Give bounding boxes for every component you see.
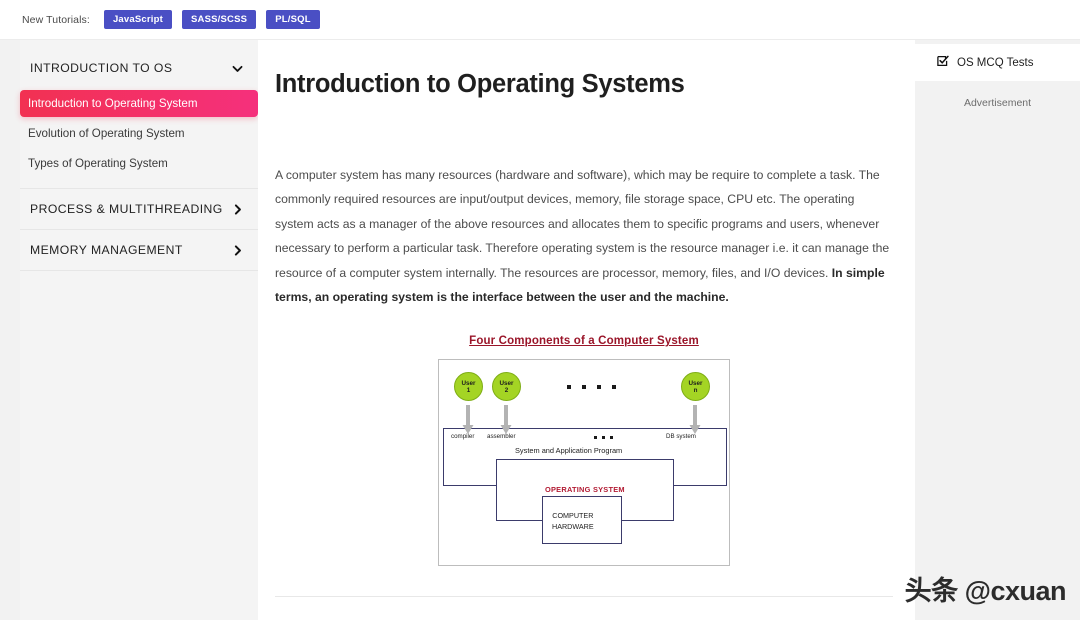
figure-diagram: User 1 User 2 User n xyxy=(438,359,730,566)
sidebar-section-introduction-to-os[interactable]: INTRODUCTION TO OS xyxy=(20,48,258,88)
page-body: INTRODUCTION TO OS Introduction to Opera… xyxy=(0,40,1080,620)
four-components-figure: Four Components of a Computer System Use… xyxy=(275,335,893,566)
os-mcq-tests-label: OS MCQ Tests xyxy=(957,57,1033,69)
left-gutter xyxy=(0,40,20,620)
section-divider xyxy=(275,596,893,597)
user-circle-label-line1: User xyxy=(499,380,513,387)
right-rail: OS MCQ Tests Advertisement xyxy=(915,40,1080,620)
user-circle-n: User n xyxy=(681,372,710,401)
figure-caption: Four Components of a Computer System xyxy=(275,335,893,347)
chevron-right-icon[interactable] xyxy=(231,244,244,257)
sidebar-section-label: MEMORY MANAGEMENT xyxy=(30,243,183,257)
sidebar-section-memory-management[interactable]: MEMORY MANAGEMENT xyxy=(20,230,258,271)
program-label-assembler: assembler xyxy=(487,433,516,440)
article-content: Introduction to Operating Systems A comp… xyxy=(258,40,915,620)
sidebar-section-label: INTRODUCTION TO OS xyxy=(30,61,172,75)
page-title: Introduction to Operating Systems xyxy=(275,70,893,99)
computer-hardware-label: COMPUTER HARDWARE xyxy=(552,511,594,532)
advertisement-label: Advertisement xyxy=(915,81,1080,109)
chevron-right-icon[interactable] xyxy=(231,203,244,216)
program-label-db-system: DB system xyxy=(666,433,696,440)
content-and-rail: Introduction to Operating Systems A comp… xyxy=(258,40,1080,620)
sidebar-section-process-multithreading[interactable]: PROCESS & MULTITHREADING xyxy=(20,189,258,230)
arrow-down-icon-user2 xyxy=(500,405,512,435)
os-mcq-tests-link[interactable]: OS MCQ Tests xyxy=(915,44,1080,81)
chevron-down-icon[interactable] xyxy=(231,62,244,75)
program-label-compiler: compiler xyxy=(451,433,474,440)
sidebar-subitem-list: Introduction to Operating System Evoluti… xyxy=(20,88,258,189)
sidebar-item-introduction-to-operating-system[interactable]: Introduction to Operating System xyxy=(20,90,258,117)
new-tutorials-label: New Tutorials: xyxy=(22,14,90,26)
top-tutorials-bar: New Tutorials: JavaScript SASS/SCSS PL/S… xyxy=(0,0,1080,40)
sidebar-section-label: PROCESS & MULTITHREADING xyxy=(30,202,223,216)
top-ellipsis-dots xyxy=(567,385,616,389)
sidebar-item-label: Types of Operating System xyxy=(28,157,168,170)
tag-button-sass-scss[interactable]: SASS/SCSS xyxy=(182,10,256,30)
sidebar-item-evolution-of-operating-system[interactable]: Evolution of Operating System xyxy=(20,120,258,147)
tag-button-plsql[interactable]: PL/SQL xyxy=(266,10,320,30)
user-circle-label-line1: User xyxy=(461,380,475,387)
program-layer-label: System and Application Program xyxy=(515,446,622,455)
arrow-down-icon-usern xyxy=(689,405,701,435)
tag-button-javascript[interactable]: JavaScript xyxy=(104,10,172,30)
user-circle-label-line1: User xyxy=(688,380,702,387)
computer-hardware-label-line1: COMPUTER xyxy=(552,511,593,520)
user-circle-2: User 2 xyxy=(492,372,521,401)
user-circle-1: User 1 xyxy=(454,372,483,401)
sidebar-item-label: Evolution of Operating System xyxy=(28,127,185,140)
user-circle-label-line2: 2 xyxy=(505,387,509,394)
mid-ellipsis-dots xyxy=(594,436,613,439)
sidebar-item-types-of-operating-system[interactable]: Types of Operating System xyxy=(20,150,258,177)
sidebar-item-label: Introduction to Operating System xyxy=(28,97,198,110)
user-circle-label-line2: n xyxy=(694,387,698,394)
user-circle-label-line2: 1 xyxy=(467,387,471,394)
computer-hardware-label-line2: HARDWARE xyxy=(552,522,594,531)
operating-system-label: OPERATING SYSTEM xyxy=(545,485,625,494)
arrow-down-icon-user1 xyxy=(462,405,474,435)
course-sidebar: INTRODUCTION TO OS Introduction to Opera… xyxy=(20,40,258,620)
intro-paragraph-text: A computer system has many resources (ha… xyxy=(275,168,889,280)
intro-paragraph: A computer system has many resources (ha… xyxy=(275,163,893,309)
checked-square-icon xyxy=(937,55,949,70)
